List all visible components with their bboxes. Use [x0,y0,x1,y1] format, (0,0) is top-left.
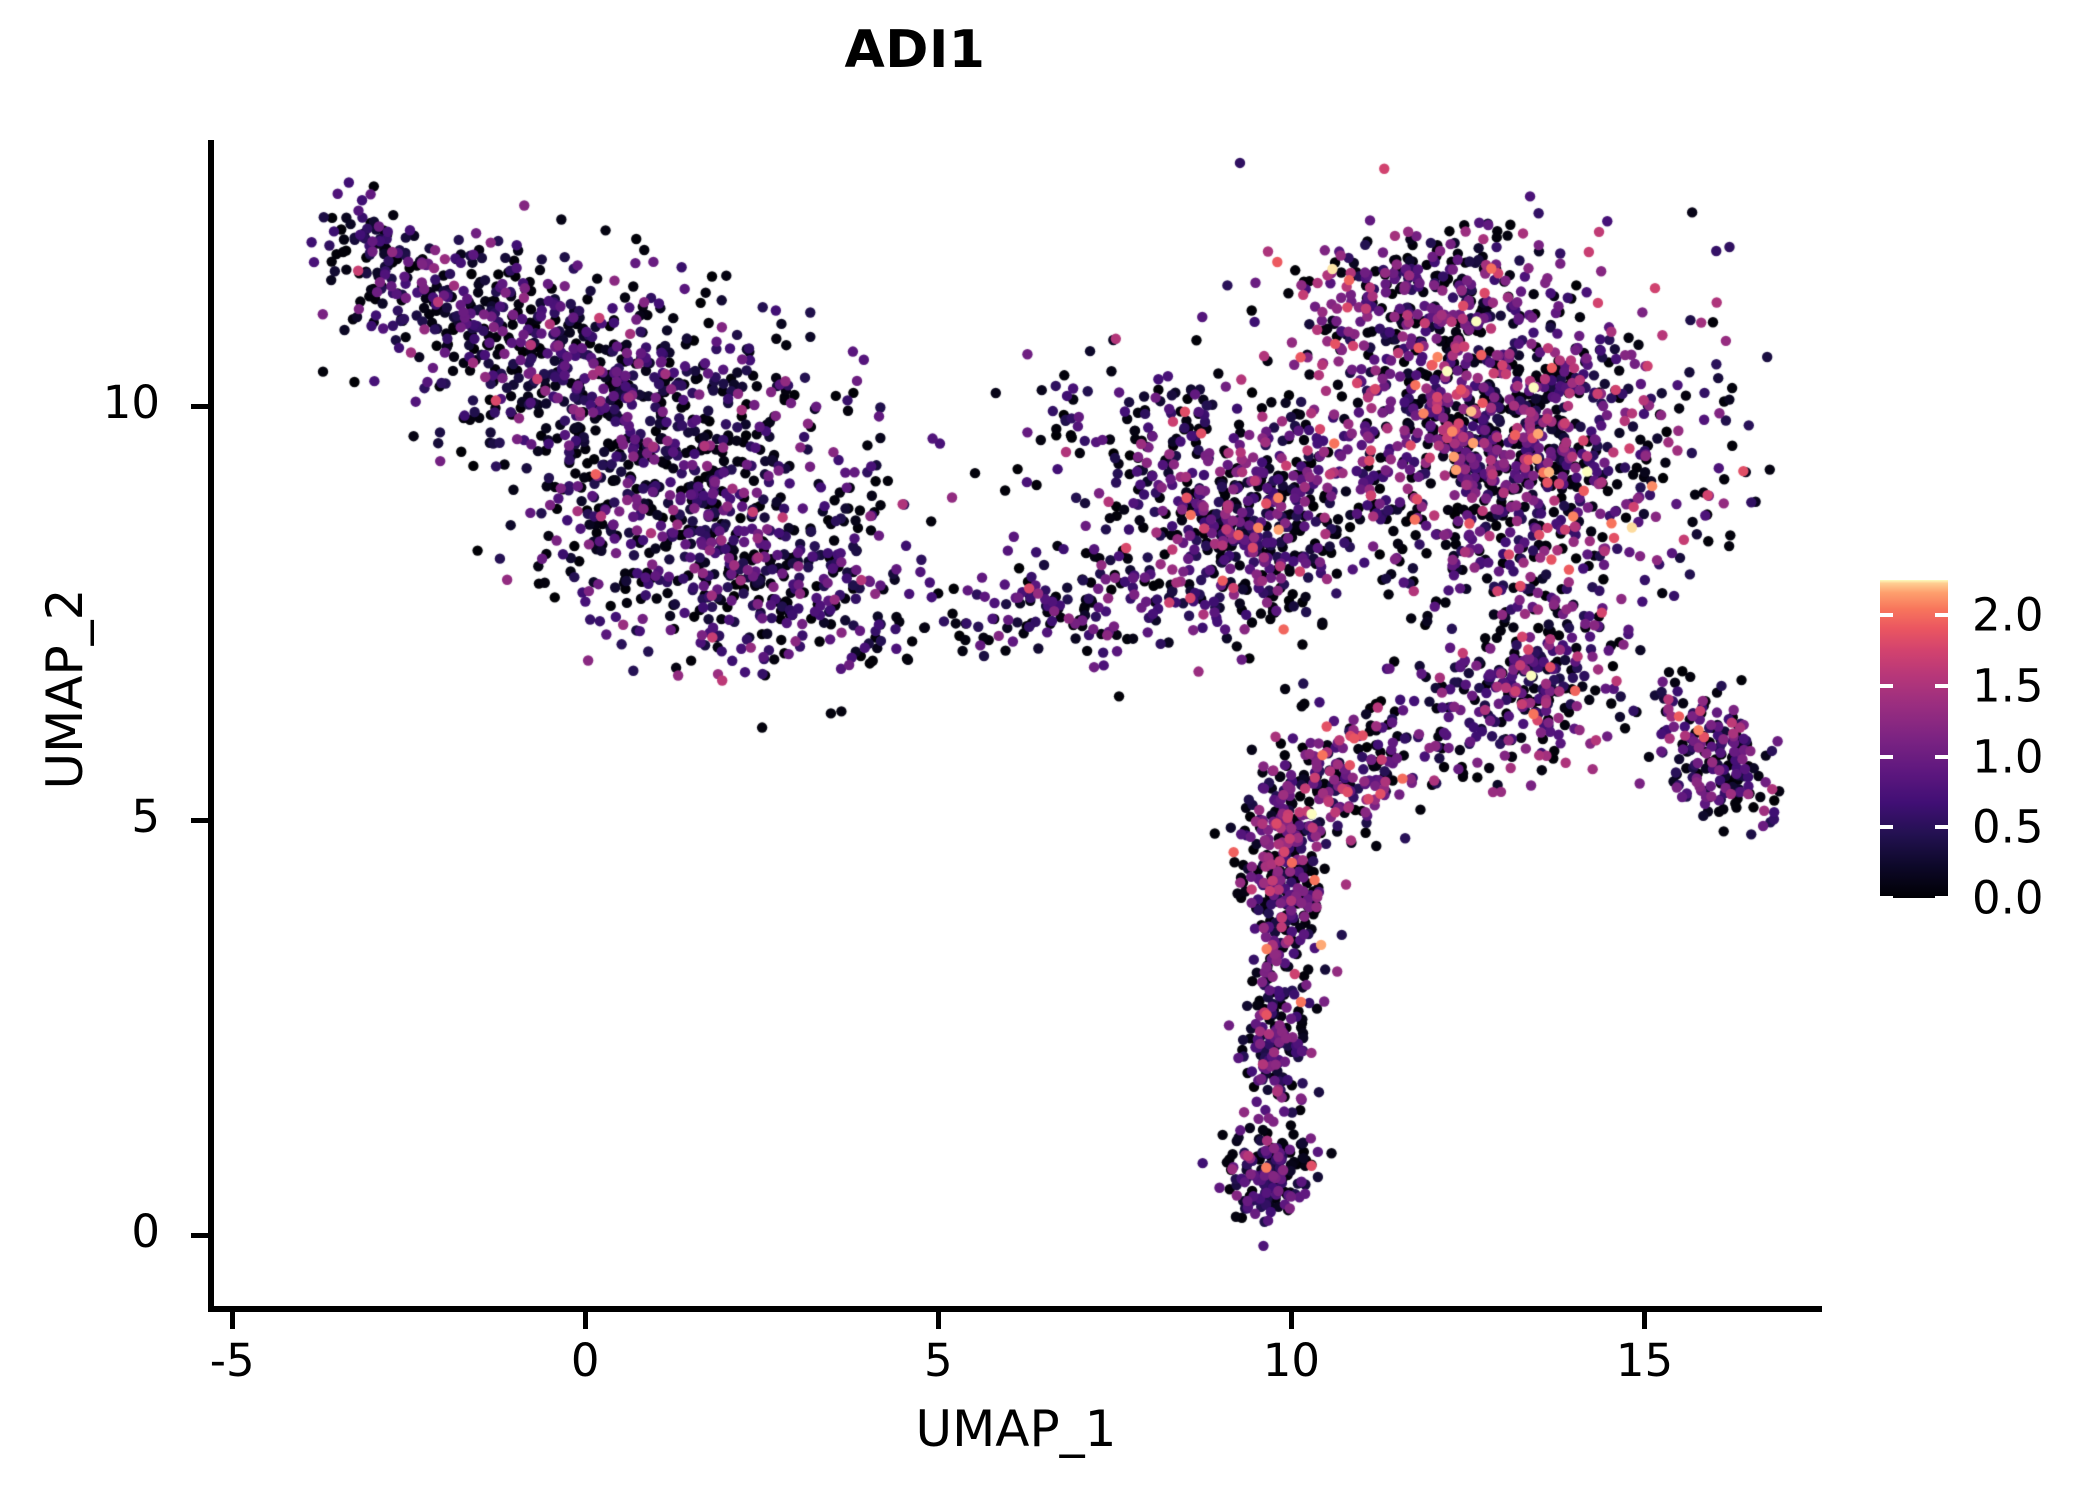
y-tick-mark [191,404,208,409]
colorbar-gradient [1880,580,1948,898]
colorbar-tick-label: 1.0 [1972,730,2044,783]
colorbar-tick-mark [1935,684,1948,688]
colorbar-tick-mark [1935,613,1948,617]
colorbar-tick-mark [1935,825,1948,829]
colorbar-tick-mark [1880,825,1893,829]
x-tick-mark [1642,1312,1647,1329]
colorbar-tick-label: 0.5 [1972,801,2044,854]
colorbar-tick-label: 2.0 [1972,589,2044,642]
y-tick-mark [191,1233,208,1238]
x-axis-label: UMAP_1 [211,1400,1821,1458]
page-title: ADI1 [0,20,1830,80]
x-tick-label: 15 [1616,1334,1673,1387]
x-tick-label: 5 [924,1334,953,1387]
x-tick-mark [1289,1312,1294,1329]
colorbar-tick-mark [1880,684,1893,688]
colorbar-tick-mark [1880,755,1893,759]
x-tick-mark [230,1312,235,1329]
colorbar-tick-mark [1880,613,1893,617]
y-axis-label: UMAP_2 [36,104,94,1274]
x-tick-label: 0 [571,1334,600,1387]
x-tick-mark [936,1312,941,1329]
colorbar-tick-label: 1.5 [1972,660,2044,713]
scatter-points-layer [211,140,1821,1310]
plot-area [211,140,1821,1310]
x-tick-label: -5 [210,1334,255,1387]
umap-feature-plot: ADI1 -50510150510 UMAP_1 UMAP_2 0.00.51.… [0,0,2100,1500]
colorbar-tick-mark [1935,755,1948,759]
x-tick-label: 10 [1263,1334,1320,1387]
colorbar-tick-mark [1935,896,1948,900]
y-tick-mark [191,818,208,823]
colorbar-tick-label: 0.0 [1972,872,2044,925]
x-tick-mark [583,1312,588,1329]
colorbar-tick-mark [1880,896,1893,900]
